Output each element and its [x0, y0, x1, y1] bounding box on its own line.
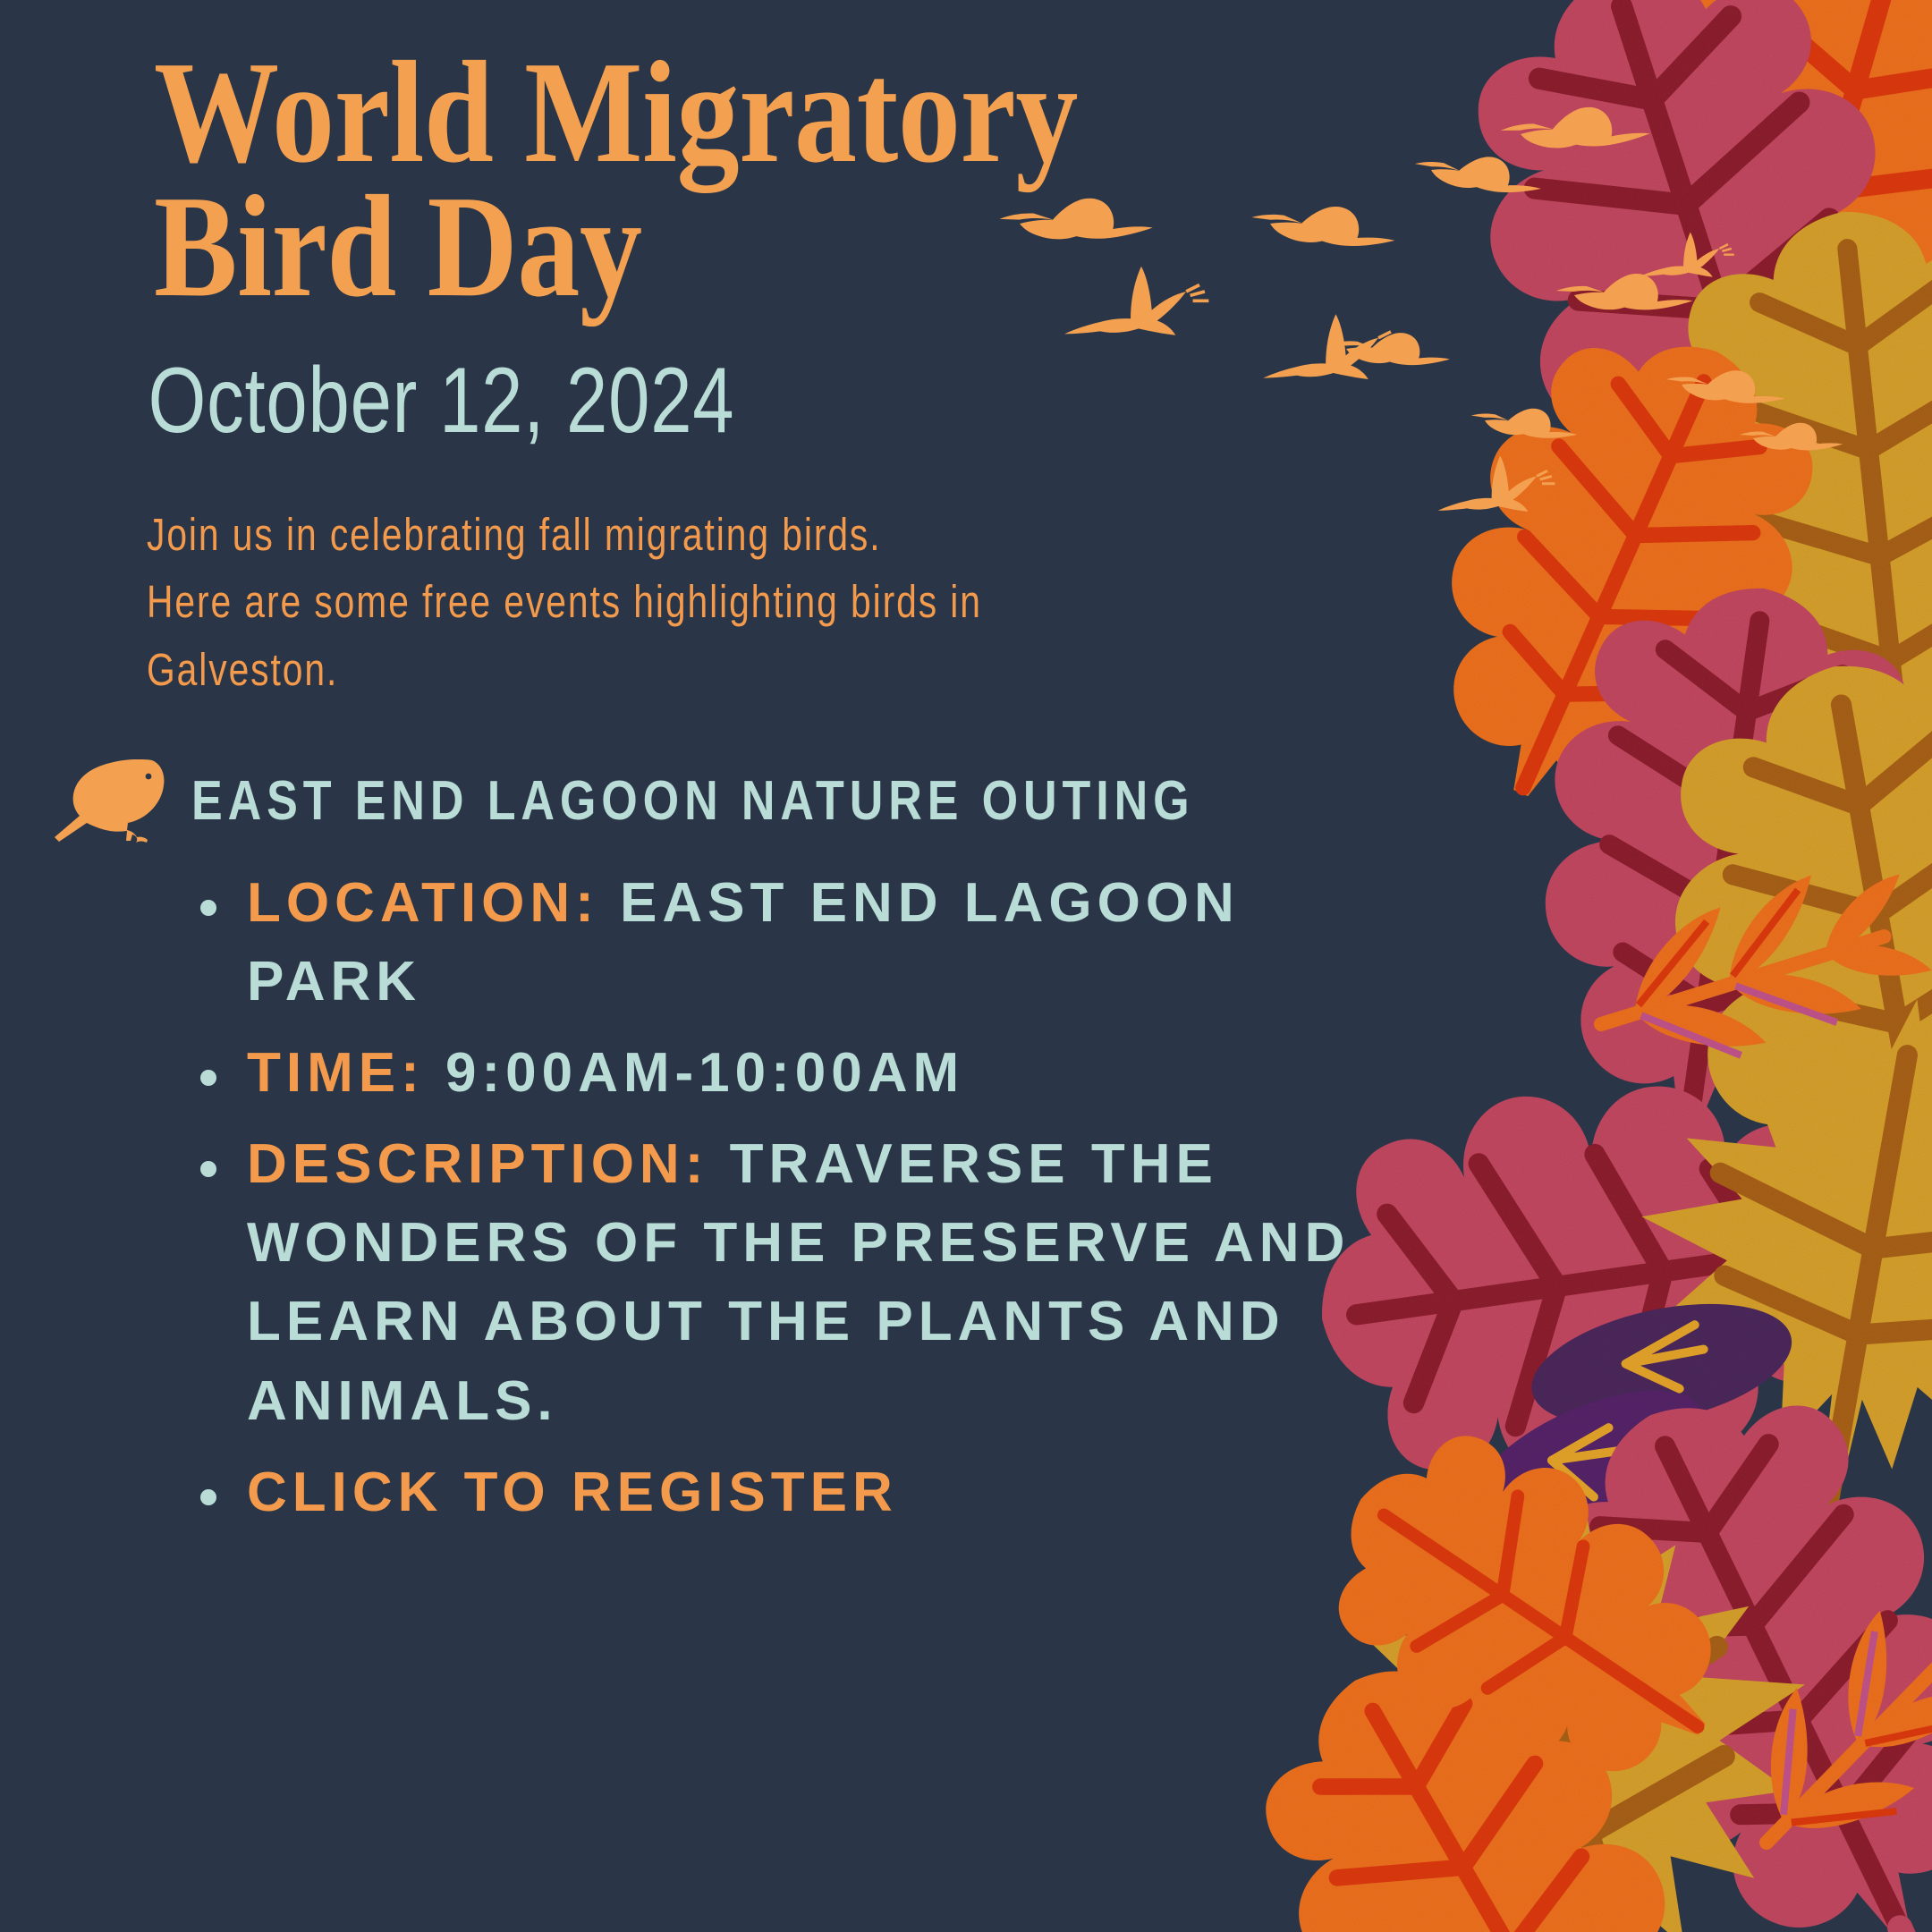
event-heading-row: EAST END LAGOON NATURE OUTING [0, 751, 1395, 852]
page-title: World Migratory Bird Day [0, 0, 1200, 315]
leaf-gold-oak-right-edge [1635, 631, 1932, 1301]
time-value: 9:00AM-10:00AM [425, 1042, 964, 1104]
flying-crane-icon [1665, 369, 1786, 405]
event-title: EAST END LAGOON NATURE OUTING [191, 771, 1194, 832]
leaf-orange-oak-bottom-left [1206, 1595, 1764, 1932]
leaf-orange-oak-top [1580, 0, 1932, 462]
event-block: EAST END LAGOON NATURE OUTING LOCATION: … [0, 703, 1395, 1531]
description-label: DESCRIPTION: [247, 1133, 708, 1195]
intro-paragraph: Join us in celebrating fall migrating bi… [0, 447, 1116, 703]
leaf-crimson-oak-mid [1509, 563, 1932, 1154]
poster-content: World Migratory Bird Day October 12, 202… [0, 0, 1395, 1545]
flying-crane-icon [1499, 101, 1650, 157]
list-item-register[interactable]: CLICK TO REGISTER [195, 1453, 1395, 1532]
flying-crane-icon [1470, 405, 1579, 440]
list-item-description: DESCRIPTION: TRAVERSE THE WONDERS OF THE… [195, 1125, 1395, 1440]
list-item-time: TIME: 9:00AM-10:00AM [195, 1034, 1395, 1113]
flying-crane-v-icon [1640, 233, 1734, 277]
location-label: LOCATION: [247, 872, 599, 934]
event-details-list: LOCATION: EAST END LAGOON PARK TIME: 9:0… [0, 852, 1395, 1531]
leaf-orange-sprig-mid [1578, 843, 1932, 1095]
list-item-location: LOCATION: EAST END LAGOON PARK [195, 864, 1395, 1021]
time-label: TIME: [247, 1042, 425, 1104]
leaf-gold-maple-right [1592, 959, 1932, 1581]
leaf-gold-oak-upper-right [1651, 191, 1932, 810]
leaf-orange-oak-mid [1374, 286, 1863, 858]
leaf-crimson-oak-upper [1422, 0, 1932, 722]
poster-canvas: World Migratory Bird Day October 12, 202… [0, 0, 1932, 1932]
flying-crane-icon [1555, 271, 1693, 315]
flying-crane-icon [1413, 152, 1543, 195]
register-link-label[interactable]: CLICK TO REGISTER [247, 1462, 898, 1523]
flying-crane-v-icon [1438, 456, 1555, 512]
leaf-orange-sprig-bottom [1694, 1582, 1932, 1901]
event-date: October 12, 2024 [0, 315, 1116, 447]
leaf-purple-pair [1443, 1282, 1813, 1560]
leaf-crimson-oak-bottom [1479, 1332, 1932, 1932]
perched-bird-icon [52, 751, 170, 852]
flying-crane-icon [1739, 421, 1843, 453]
